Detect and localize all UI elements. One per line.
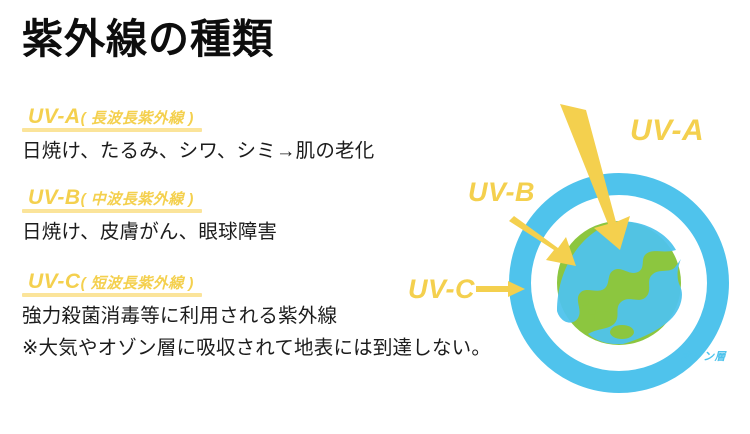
uv-b-japanese-name: ( 中波長紫外線 ) [81, 191, 194, 208]
uv-sections-list: UV-A( 長波長紫外線 ) 日焼け、たるみ、シワ、シミ→肌の老化 UV-B( … [22, 104, 452, 363]
uv-c-description-note: ※大気やオゾン層に吸収されて地表には到達しない。 [22, 334, 452, 363]
uv-b-underline [22, 209, 202, 213]
uv-c-description: 強力殺菌消毒等に利用される紫外線 [22, 302, 452, 331]
page-title: 紫外線の種類 [22, 17, 274, 62]
uv-a-heading: UV-A( 長波長紫外線 ) [22, 104, 198, 131]
uv-earth-diagram: UV-A UV-B UV-C オゾン層 [408, 96, 750, 396]
uv-b-description: 日焼け、皮膚がん、眼球障害 [22, 218, 452, 247]
uv-section-uv-b: UV-B( 中波長紫外線 ) 日焼け、皮膚がん、眼球障害 [22, 185, 452, 248]
uv-a-label: UV-A [630, 114, 704, 147]
uv-b-code: UV-B [28, 186, 81, 209]
uv-c-label: UV-C [408, 274, 475, 304]
ozone-layer-label: オゾン層 [680, 350, 727, 363]
uv-c-underline [22, 293, 202, 297]
uv-a-japanese-name: ( 長波長紫外線 ) [81, 110, 194, 127]
uv-c-japanese-name: ( 短波長紫外線 ) [81, 275, 194, 292]
uv-b-heading: UV-B( 中波長紫外線 ) [22, 185, 198, 212]
uv-section-uv-a: UV-A( 長波長紫外線 ) 日焼け、たるみ、シワ、シミ→肌の老化 [22, 104, 452, 167]
uv-a-underline [22, 128, 202, 132]
uv-a-description: 日焼け、たるみ、シワ、シミ→肌の老化 [22, 137, 452, 166]
uv-c-code: UV-C [28, 270, 81, 293]
uv-a-code: UV-A [28, 105, 81, 128]
uv-b-label: UV-B [468, 177, 535, 207]
uv-section-uv-c: UV-C( 短波長紫外線 ) 強力殺菌消毒等に利用される紫外線 ※大気やオゾン層… [22, 269, 452, 363]
slide-root: 紫外線の種類 UV-A( 長波長紫外線 ) 日焼け、たるみ、シワ、シミ→肌の老化… [0, 0, 750, 434]
uv-c-heading: UV-C( 短波長紫外線 ) [22, 269, 198, 296]
